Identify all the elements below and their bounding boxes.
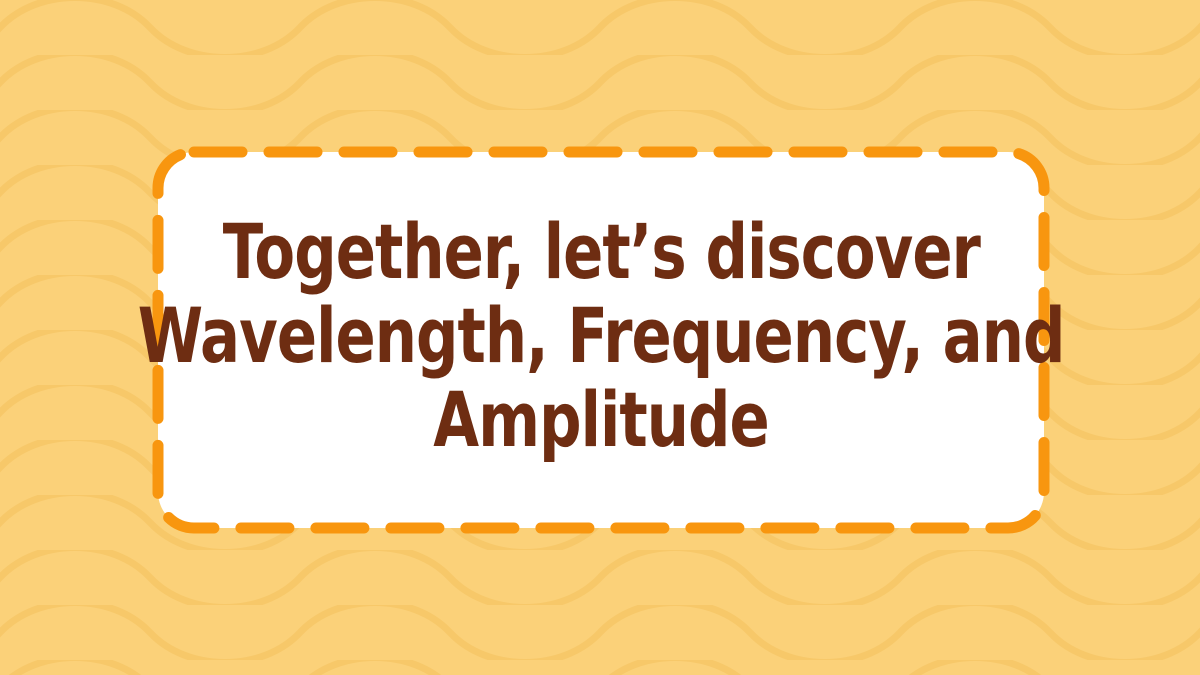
slide-canvas: Together, let’s discover Wavelength, Fre… [0,0,1200,675]
headline-line-2: Wavelength, Frequency, and [138,294,1065,378]
content-card: Together, let’s discover Wavelength, Fre… [158,152,1044,528]
headline-line-3: Amplitude [433,378,768,462]
headline-text-block: Together, let’s discover Wavelength, Fre… [158,152,1044,528]
headline-line-1: Together, let’s discover [222,210,979,294]
